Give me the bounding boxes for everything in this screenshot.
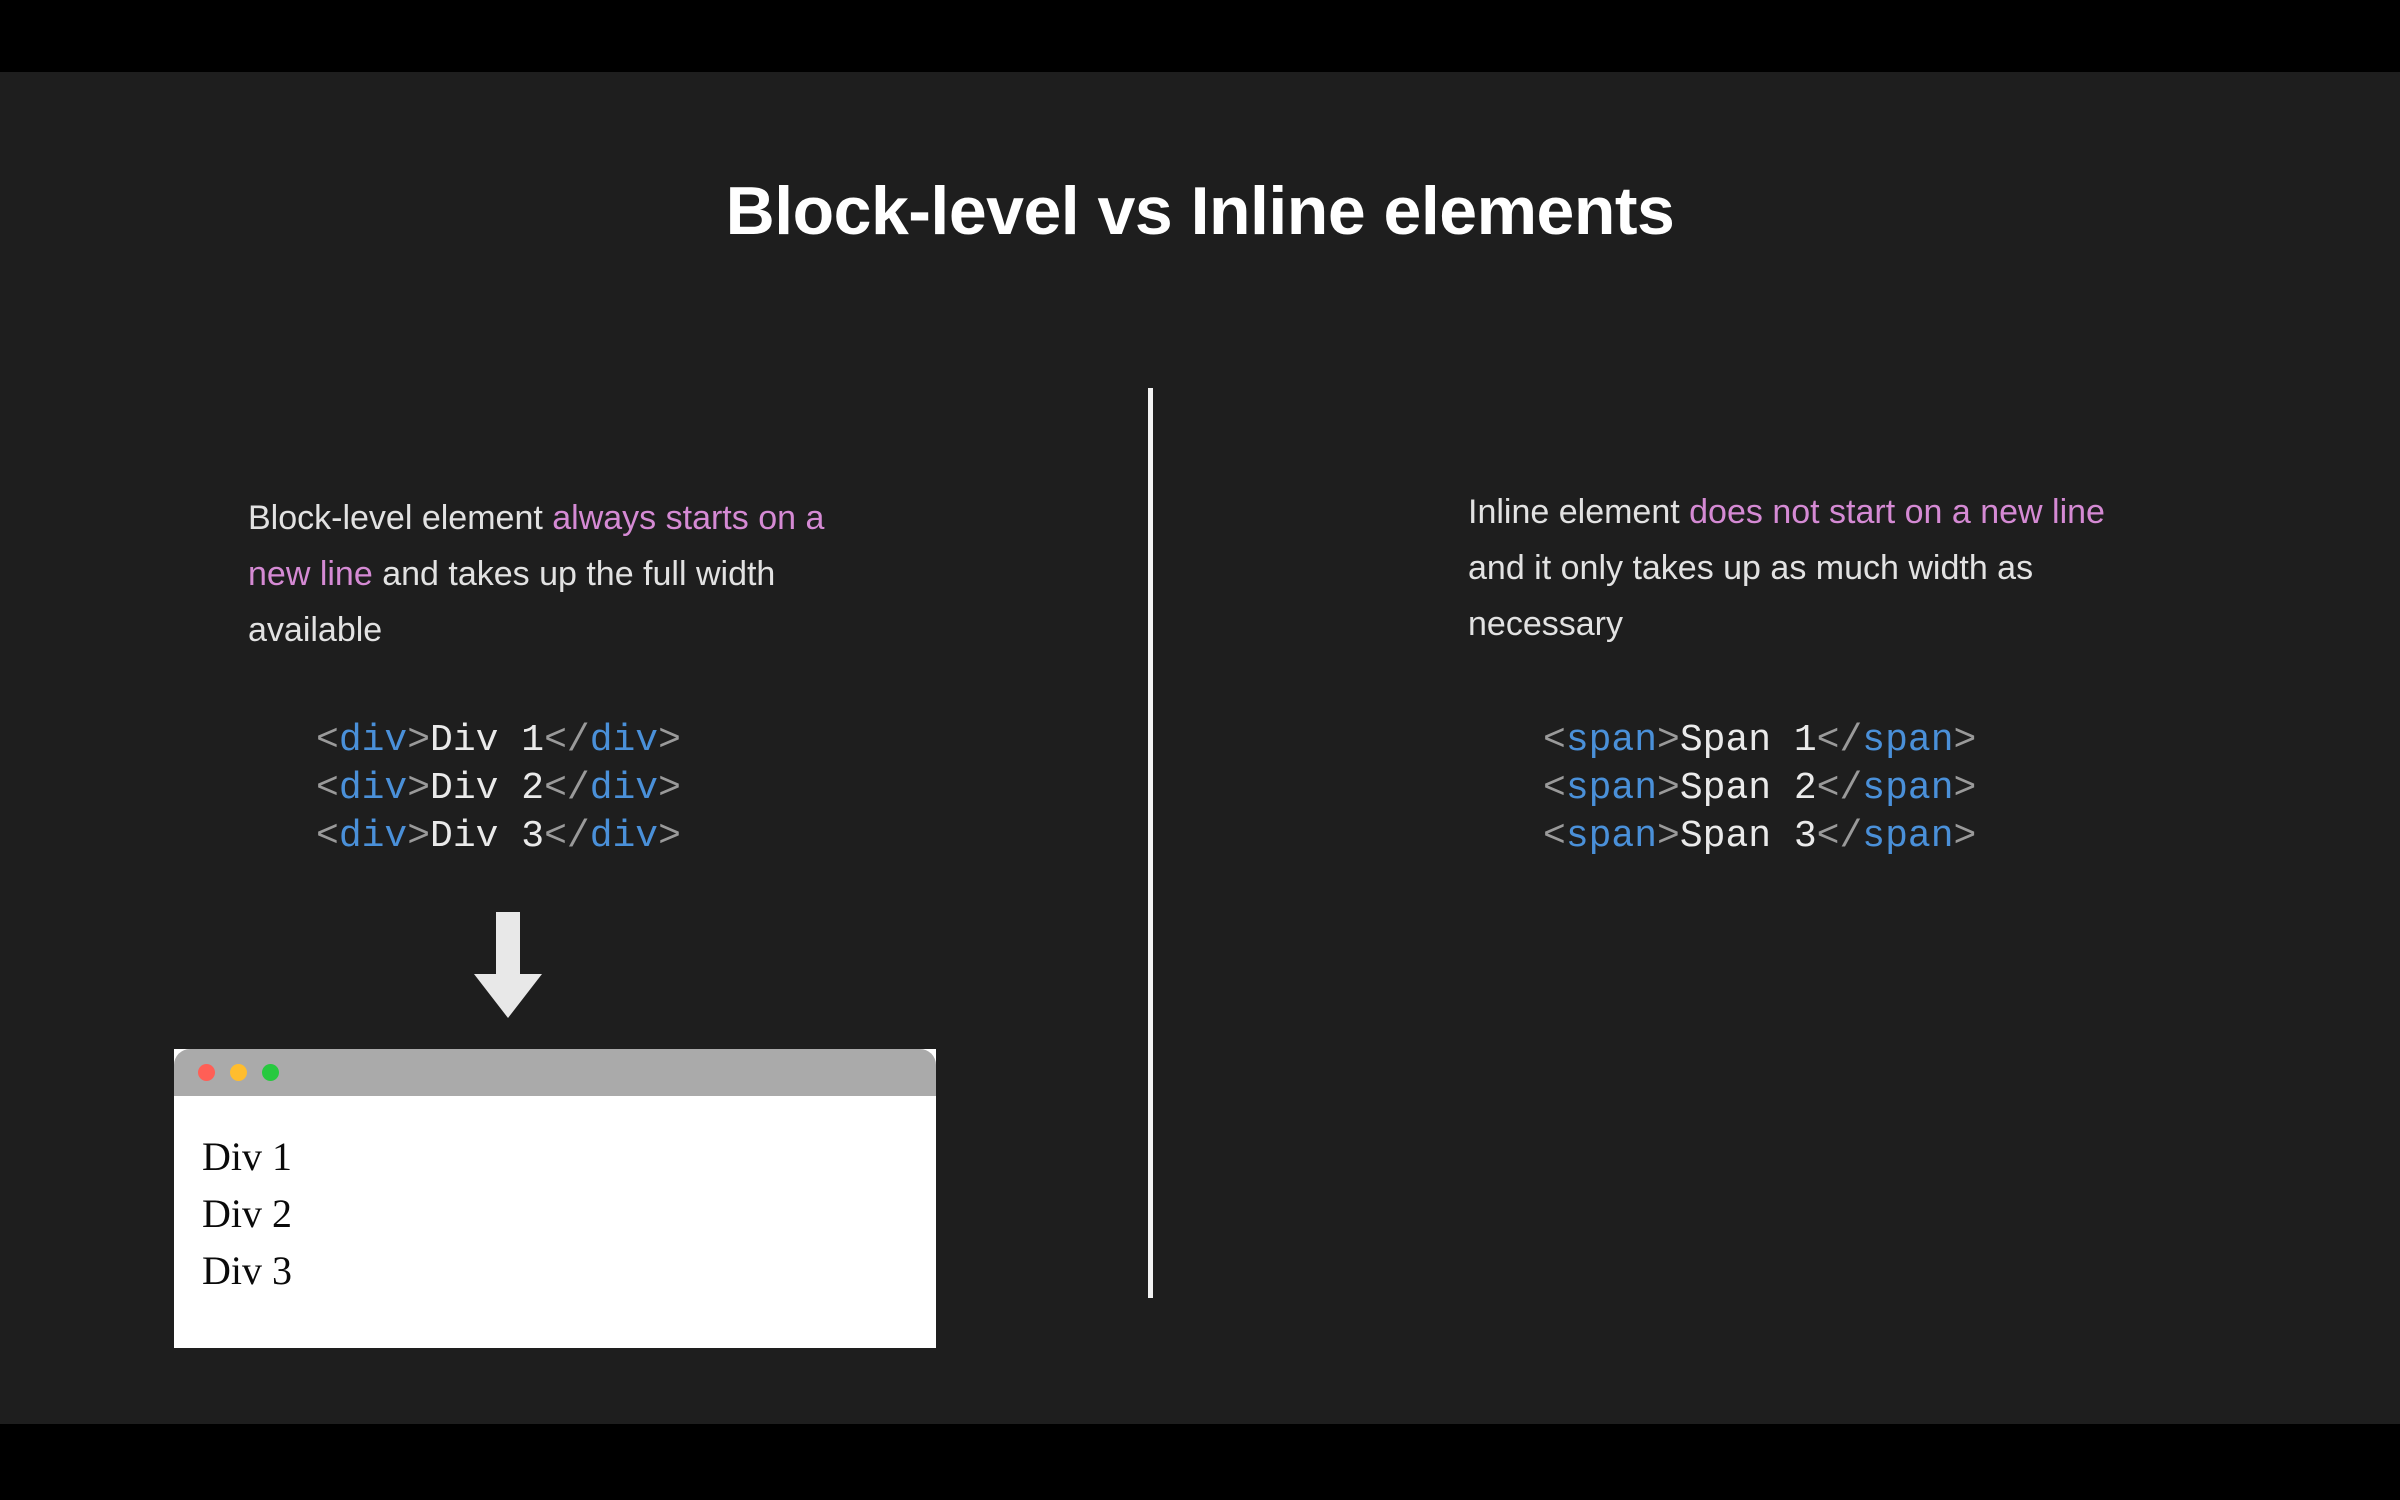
code-close-tag-name: span	[1862, 719, 1953, 762]
code-close-tag-name: div	[590, 815, 658, 858]
code-line: <div>Div 1</div>	[316, 717, 681, 765]
block-level-description-part1: Block-level element	[248, 499, 552, 537]
code-close-bracket-end: >	[658, 815, 681, 858]
code-line: <div>Div 3</div>	[316, 813, 681, 861]
code-close-bracket: </	[544, 815, 590, 858]
code-close-bracket: </	[1817, 767, 1863, 810]
inline-description-part1: Inline element	[1468, 493, 1689, 531]
code-content: Span 3	[1680, 815, 1817, 858]
code-close-bracket: </	[1817, 719, 1863, 762]
rendered-block-item: Div 2	[202, 1185, 936, 1242]
code-close-tag-name: span	[1862, 815, 1953, 858]
column-divider	[1148, 388, 1153, 1298]
inline-description: Inline element does not start on a new l…	[1468, 484, 2108, 652]
rendered-block-item: Div 1	[202, 1128, 936, 1185]
code-open-bracket: <	[1543, 767, 1566, 810]
code-open-bracket-close: >	[407, 719, 430, 762]
code-content: Div 3	[430, 815, 544, 858]
block-level-code-snippet: <div>Div 1</div><div>Div 2</div><div>Div…	[316, 717, 681, 861]
code-open-bracket: <	[1543, 815, 1566, 858]
code-open-bracket: <	[316, 815, 339, 858]
code-line: <div>Div 2</div>	[316, 765, 681, 813]
inline-description-part2: and it only takes up as much width as ne…	[1468, 549, 2033, 643]
code-close-bracket-end: >	[658, 719, 681, 762]
code-line: <span>Span 1</span>	[1543, 717, 1976, 765]
code-open-bracket: <	[316, 767, 339, 810]
code-tag-name: div	[339, 767, 407, 810]
code-content: Div 2	[430, 767, 544, 810]
browser-titlebar	[174, 1049, 936, 1096]
block-level-browser-mockup: Div 1 Div 2 Div 3	[174, 1049, 936, 1348]
code-close-bracket-end: >	[658, 767, 681, 810]
code-line: <span>Span 2</span>	[1543, 765, 1976, 813]
code-content: Span 1	[1680, 719, 1817, 762]
window-maximize-dot[interactable]	[262, 1064, 279, 1081]
code-close-bracket: </	[544, 767, 590, 810]
code-close-tag-name: span	[1862, 767, 1953, 810]
code-tag-name: span	[1566, 767, 1657, 810]
code-close-bracket-end: >	[1954, 719, 1977, 762]
code-content: Div 1	[430, 719, 544, 762]
code-line: <span>Span 3</span>	[1543, 813, 1976, 861]
code-content: Span 2	[1680, 767, 1817, 810]
window-minimize-dot[interactable]	[230, 1064, 247, 1081]
code-tag-name: span	[1566, 719, 1657, 762]
inline-description-highlight: does not start on a new line	[1689, 493, 2105, 531]
inline-code-snippet: <span>Span 1</span><span>Span 2</span><s…	[1543, 717, 1976, 861]
code-close-bracket-end: >	[1954, 815, 1977, 858]
code-open-bracket-close: >	[1657, 719, 1680, 762]
arrow-down-icon	[468, 912, 548, 1022]
code-open-bracket: <	[1543, 719, 1566, 762]
rendered-block-item: Div 3	[202, 1242, 936, 1299]
code-open-bracket: <	[316, 719, 339, 762]
code-open-bracket-close: >	[1657, 767, 1680, 810]
slide-stage: Block-level vs Inline elements Block-lev…	[0, 72, 2400, 1424]
code-open-bracket-close: >	[407, 815, 430, 858]
code-close-bracket: </	[1817, 815, 1863, 858]
code-tag-name: div	[339, 719, 407, 762]
code-close-bracket-end: >	[1954, 767, 1977, 810]
slide-root: Block-level vs Inline elements Block-lev…	[0, 0, 2400, 1500]
page-title: Block-level vs Inline elements	[0, 172, 2400, 250]
code-close-tag-name: div	[590, 767, 658, 810]
code-close-tag-name: div	[590, 719, 658, 762]
letterbox-bottom	[0, 1424, 2400, 1500]
block-level-description: Block-level element always starts on a n…	[248, 490, 848, 658]
code-open-bracket-close: >	[1657, 815, 1680, 858]
window-close-dot[interactable]	[198, 1064, 215, 1081]
code-open-bracket-close: >	[407, 767, 430, 810]
letterbox-top	[0, 0, 2400, 72]
code-tag-name: span	[1566, 815, 1657, 858]
browser-viewport: Div 1 Div 2 Div 3	[174, 1096, 936, 1348]
code-tag-name: div	[339, 815, 407, 858]
code-close-bracket: </	[544, 719, 590, 762]
